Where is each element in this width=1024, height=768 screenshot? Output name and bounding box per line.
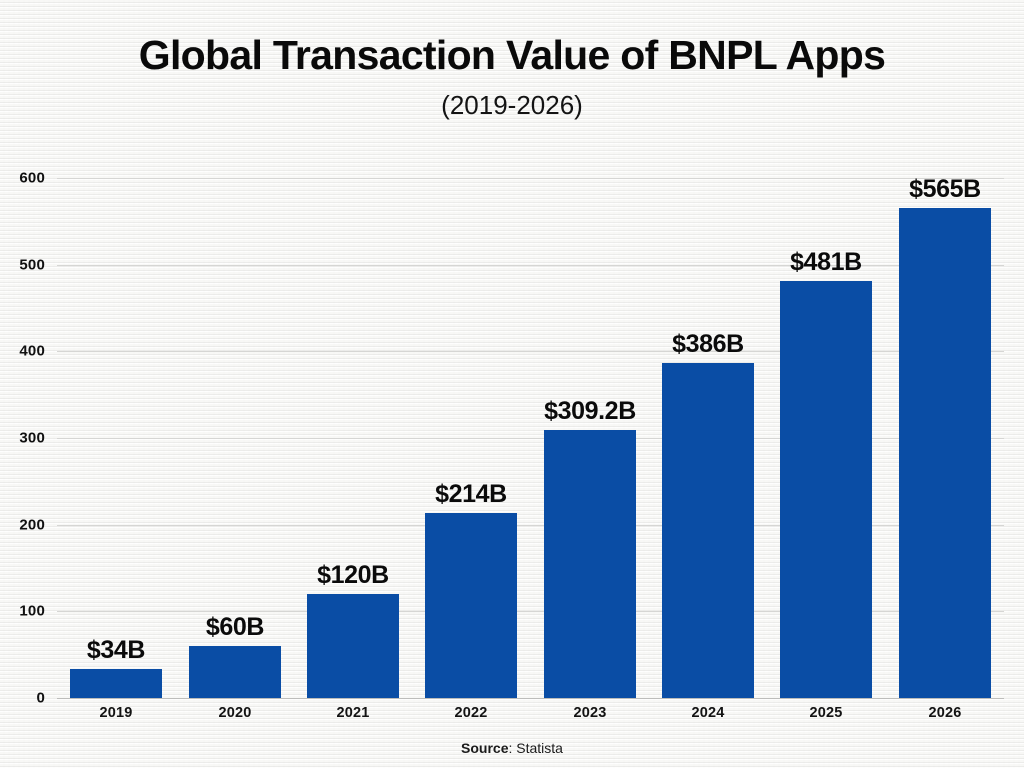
source-name: Statista xyxy=(516,740,563,756)
bar-value-label-2025: $481B xyxy=(740,248,912,277)
bar-value-label-2023: $309.2B xyxy=(504,397,676,426)
bar-2023[interactable] xyxy=(544,430,636,698)
x-tick-label-2019: 2019 xyxy=(50,705,182,721)
source-label: Source xyxy=(461,740,508,756)
bar-value-label-2024: $386B xyxy=(622,330,794,359)
y-tick-label-300: 300 xyxy=(0,430,45,447)
gridline-0 xyxy=(57,698,1004,699)
source-note: Source: Statista xyxy=(0,740,1024,756)
x-tick-label-2021: 2021 xyxy=(287,705,419,721)
bar-2022[interactable] xyxy=(425,513,517,698)
y-tick-label-200: 200 xyxy=(0,516,45,533)
bar-value-label-2020: $60B xyxy=(149,613,321,642)
bar-2021[interactable] xyxy=(307,594,399,698)
x-tick-label-2022: 2022 xyxy=(405,705,537,721)
y-tick-label-600: 600 xyxy=(0,170,45,187)
plot-area: 0100200300400500600 $34B$60B$120B$214B$3… xyxy=(0,0,1024,768)
x-tick-label-2023: 2023 xyxy=(524,705,656,721)
x-tick-label-2026: 2026 xyxy=(879,705,1011,721)
bar-value-label-2021: $120B xyxy=(267,561,439,590)
y-tick-label-100: 100 xyxy=(0,603,45,620)
bar-2020[interactable] xyxy=(189,646,281,698)
bar-2026[interactable] xyxy=(899,208,991,698)
bar-value-label-2022: $214B xyxy=(385,480,557,509)
x-tick-label-2024: 2024 xyxy=(642,705,774,721)
chart-canvas: Global Transaction Value of BNPL Apps (2… xyxy=(0,0,1024,768)
y-tick-label-500: 500 xyxy=(0,256,45,273)
y-tick-label-0: 0 xyxy=(0,690,45,707)
bar-value-label-2026: $565B xyxy=(859,175,1024,204)
y-tick-label-400: 400 xyxy=(0,343,45,360)
bar-2019[interactable] xyxy=(70,669,162,698)
x-tick-label-2020: 2020 xyxy=(169,705,301,721)
x-tick-label-2025: 2025 xyxy=(760,705,892,721)
